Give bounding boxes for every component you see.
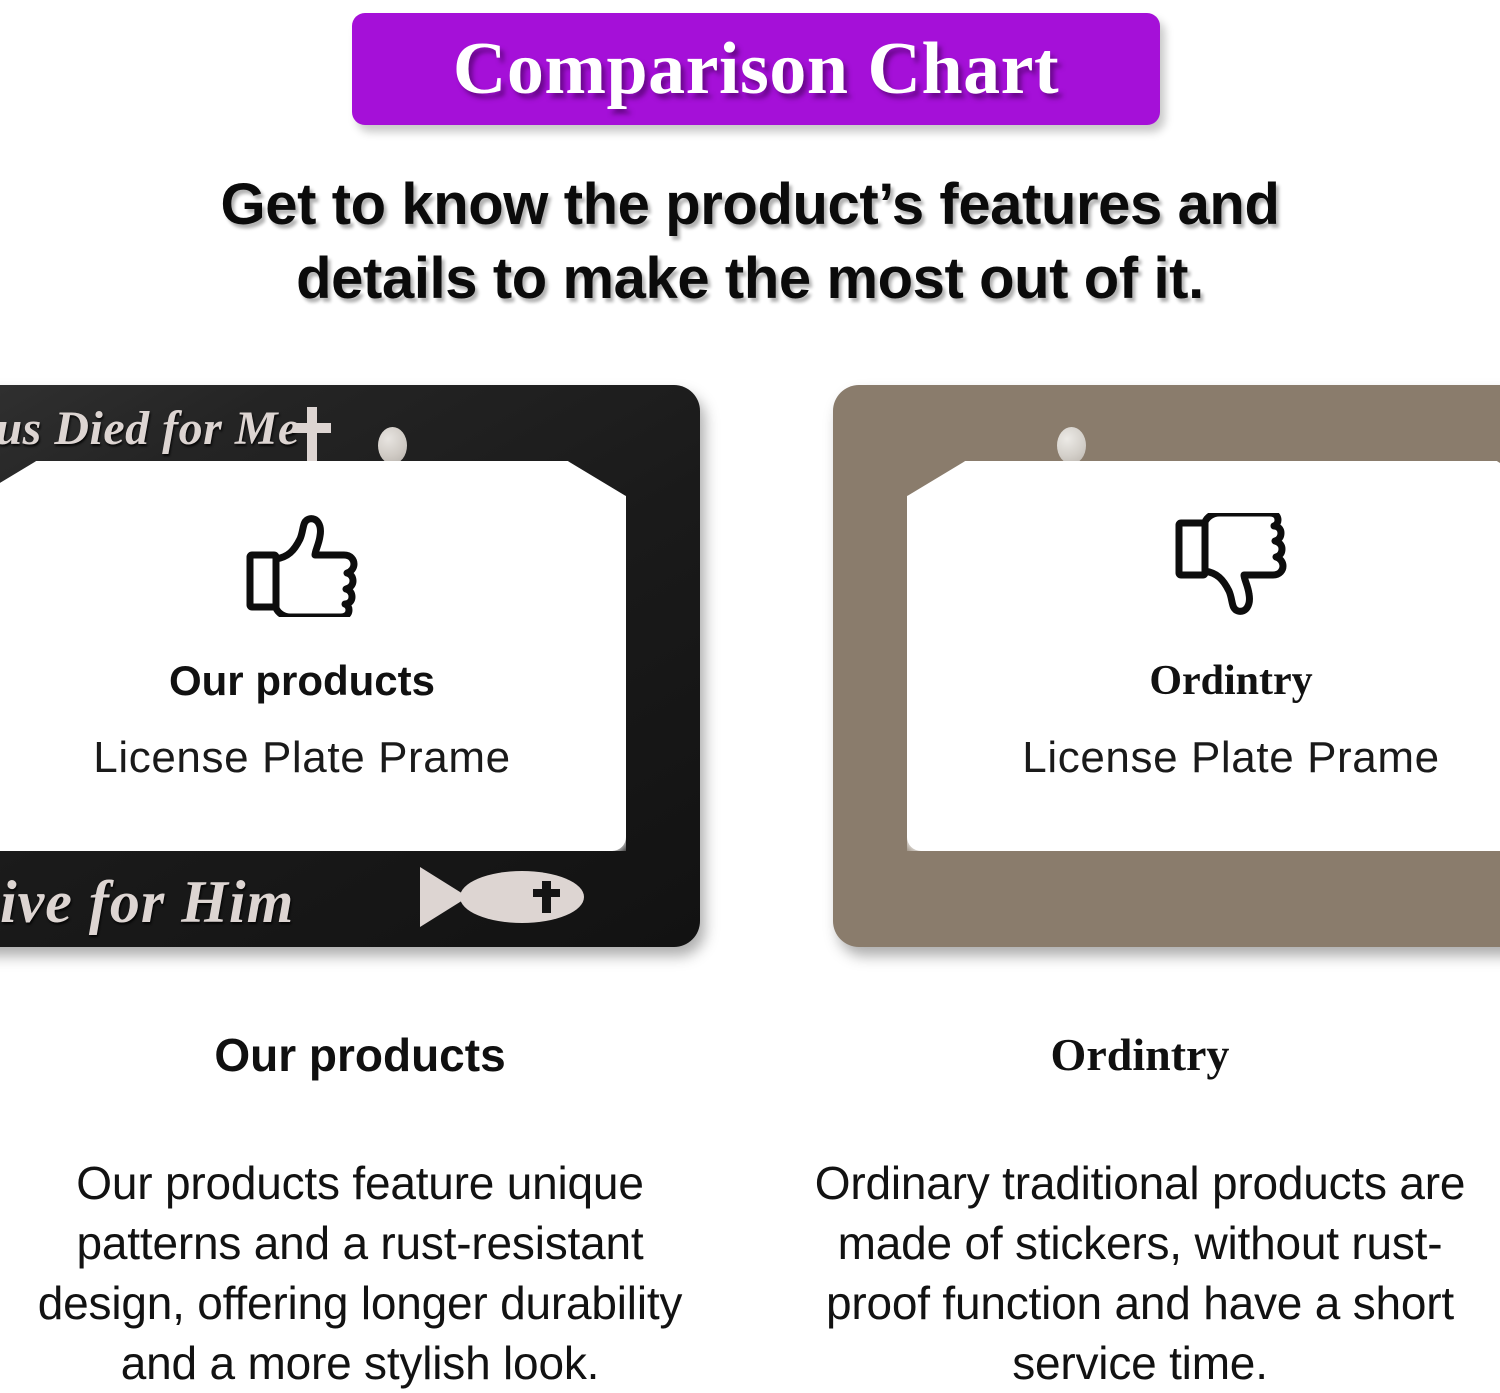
license-plate-frame-ours: Jesus Died for Me Our products License P… [0,385,700,947]
left-detail-column: Our products Our products feature unique… [10,1030,710,1393]
comparison-chart-banner: Comparison Chart [352,13,1160,125]
frame-bottom-engraving: I Live for Him [0,868,294,937]
ichthys-fish-icon [416,859,586,935]
left-product-panel: Jesus Died for Me Our products License P… [0,385,704,955]
right-detail-heading: Ordintry [790,1030,1490,1081]
subtitle-line-1: Get to know the product’s features and [60,168,1440,242]
license-plate-frame-ordinary: Ordintry License Plate Prame [833,385,1500,947]
right-detail-body: Ordinary traditional products are made o… [790,1153,1490,1393]
thumbs-down-icon [1173,513,1289,617]
left-detail-body: Our products feature unique patterns and… [10,1153,710,1393]
left-detail-heading: Our products [10,1030,710,1081]
right-product-panel: Ordintry License Plate Prame [833,385,1500,955]
thumbs-up-icon [244,513,360,617]
page-title: Comparison Chart [453,32,1059,106]
subtitle-line-2: details to make the most out of it. [60,242,1440,316]
right-window-content: Ordintry License Plate Prame [833,385,1500,783]
left-window-content: Our products License Plate Prame [0,385,700,783]
right-brand-label: Ordintry [1149,657,1312,705]
left-product-label: License Plate Prame [93,733,510,783]
subtitle: Get to know the product’s features and d… [60,168,1440,316]
left-brand-label: Our products [169,657,435,705]
right-detail-column: Ordintry Ordinary traditional products a… [790,1030,1490,1393]
right-product-label: License Plate Prame [1022,733,1439,783]
